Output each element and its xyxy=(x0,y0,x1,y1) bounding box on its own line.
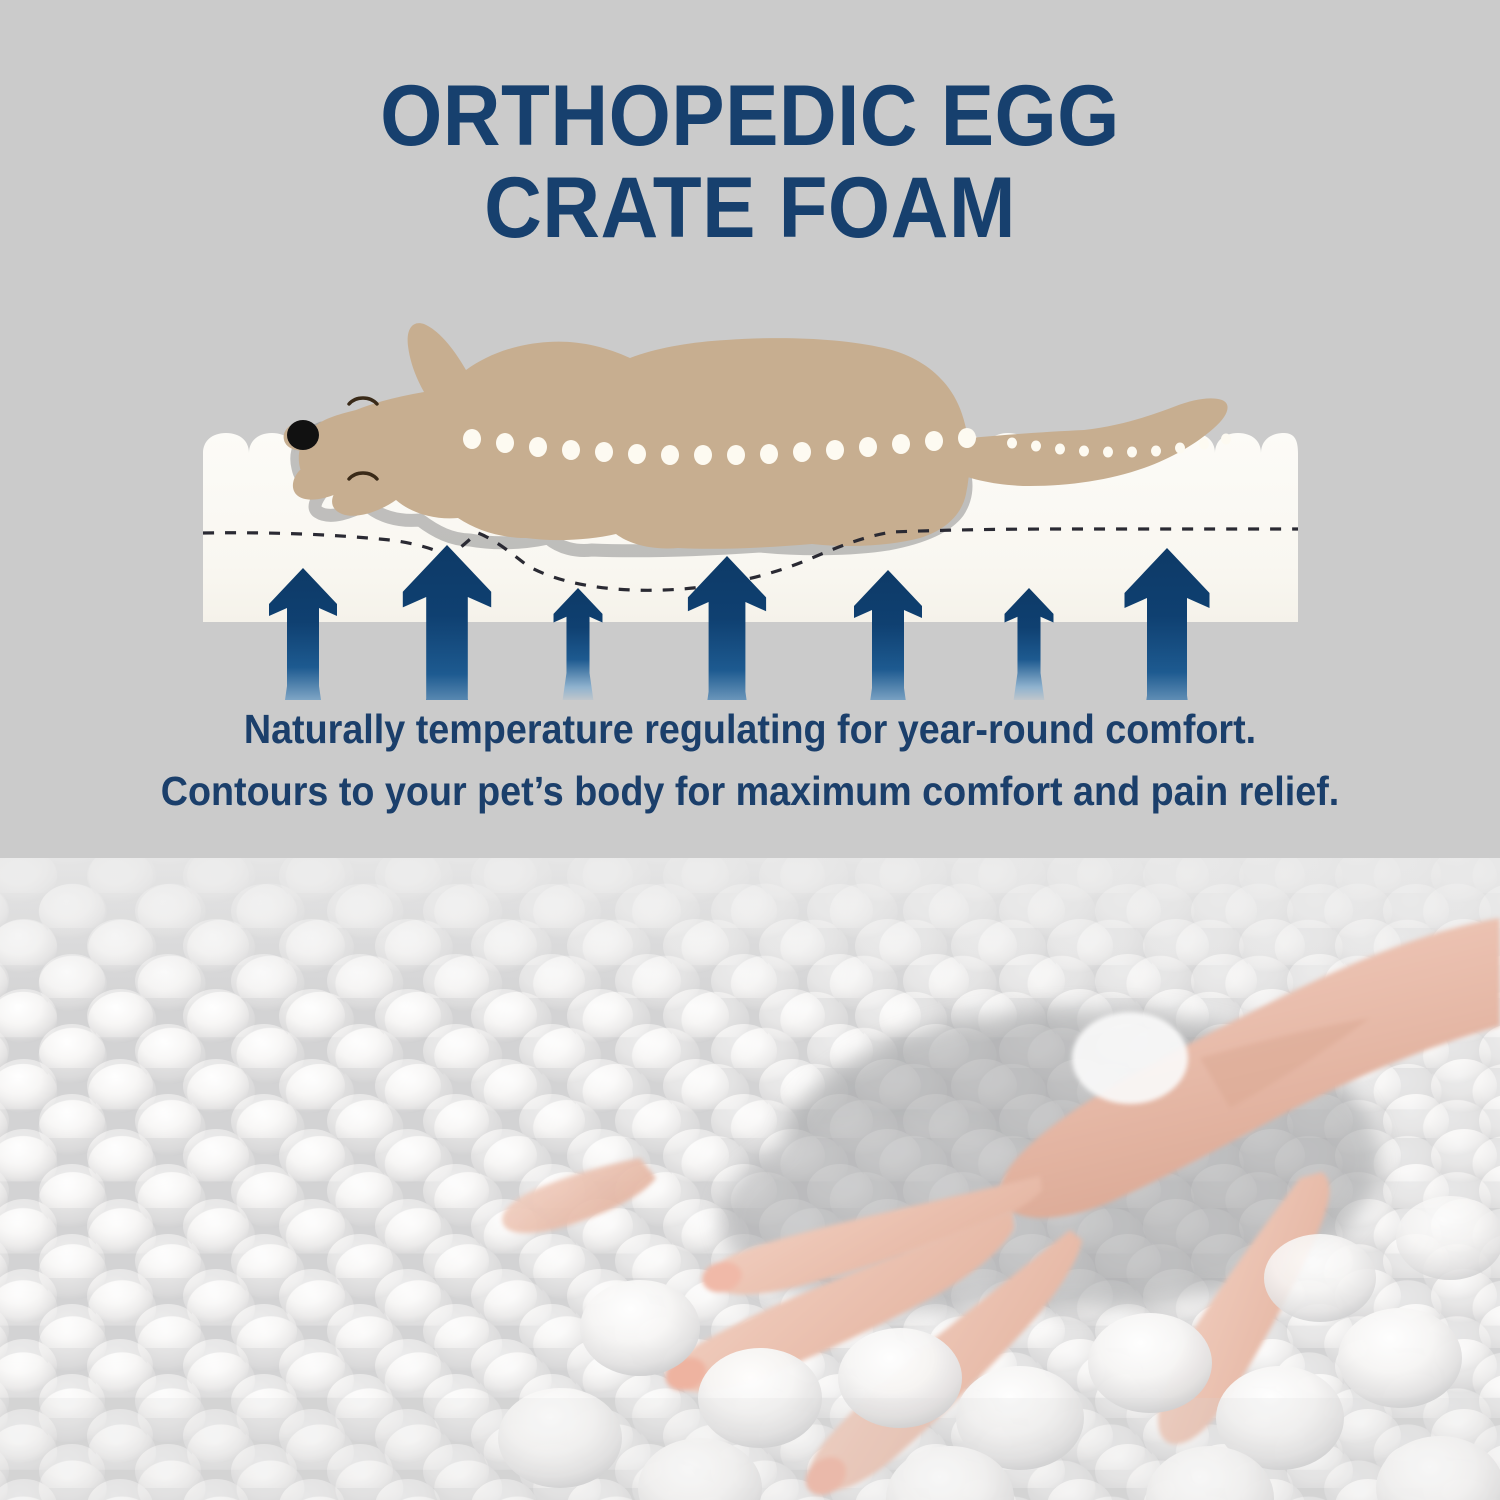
foam-diagram xyxy=(0,300,1500,700)
benefit-line-2: Contours to your pet’s body for maximum … xyxy=(60,760,1440,822)
page-title-line-2: CRATE FOAM xyxy=(484,160,1016,256)
page-title: ORTHOPEDIC EGG CRATE FOAM xyxy=(53,70,1448,254)
foam-photo xyxy=(0,858,1500,1500)
benefit-line-1: Naturally temperature regulating for yea… xyxy=(60,698,1440,760)
dog-eye-upper xyxy=(349,398,377,404)
dog-nose xyxy=(287,420,319,450)
benefit-text: Naturally temperature regulating for yea… xyxy=(60,698,1440,822)
illustration-panel: ORTHOPEDIC EGG CRATE FOAM xyxy=(0,0,1500,858)
product-feature-image: ORTHOPEDIC EGG CRATE FOAM xyxy=(0,0,1500,1500)
page-title-line-1: ORTHOPEDIC EGG xyxy=(380,68,1120,164)
